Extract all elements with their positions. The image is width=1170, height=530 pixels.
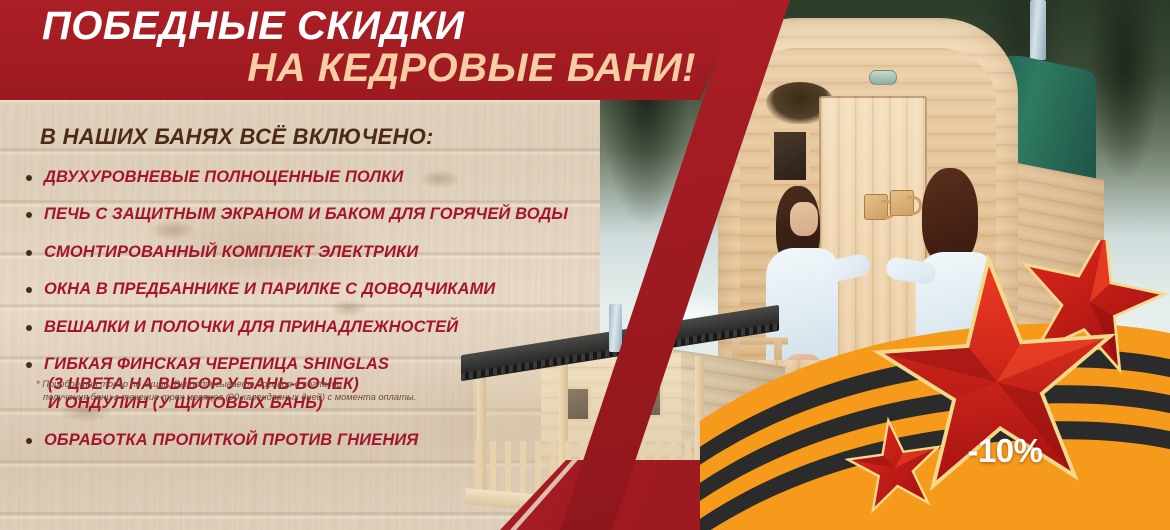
cabin-lamp-icon bbox=[869, 70, 897, 85]
face bbox=[790, 202, 818, 236]
list-item: ОКНА В ПРЕДБАННИКЕ И ПАРИЛКЕ С ДОВОДЧИКА… bbox=[26, 280, 600, 299]
cabin-window bbox=[770, 128, 810, 184]
promo-banner: ПОБЕДНЫЕ СКИДКИ НА КЕДРОВЫЕ БАНИ! В НАШИ… bbox=[0, 0, 1170, 530]
list-item: ВЕШАЛКИ И ПОЛОЧКИ ДЛЯ ПРИНАДЛЕЖНОСТЕЙ bbox=[26, 318, 600, 337]
list-item: ПЕЧЬ С ЗАЩИТНЫМ ЭКРАНОМ И БАКОМ ДЛЯ ГОРЯ… bbox=[26, 205, 600, 224]
beer-mug-icon bbox=[890, 190, 914, 216]
discount-stars bbox=[845, 240, 1170, 530]
chimney-pipe bbox=[609, 304, 622, 352]
list-item-label: СМОНТИРОВАННЫЙ КОМПЛЕКТ ЭЛЕКТРИКИ bbox=[44, 243, 418, 261]
features-list: ДВУХУРОВНЕВЫЕ ПОЛНОЦЕННЫЕ ПОЛКИ ПЕЧЬ С З… bbox=[0, 168, 600, 450]
list-item: ОБРАБОТКА ПРОПИТКОЙ ПРОТИВ ГНИЕНИЯ bbox=[26, 431, 600, 450]
disclaimer-line-2: получения бани в течение трех месяцев (9… bbox=[36, 391, 556, 404]
title-line-2: НА КЕДРОВЫЕ БАНИ! bbox=[0, 48, 720, 88]
list-item-label: ОКНА В ПРЕДБАННИКЕ И ПАРИЛКЕ С ДОВОДЧИКА… bbox=[44, 280, 495, 298]
list-item-label: ДВУХУРОВНЕВЫЕ ПОЛНОЦЕННЫЕ ПОЛКИ bbox=[44, 168, 403, 186]
star-small-bottom bbox=[845, 410, 950, 517]
header-title-block: ПОБЕДНЫЕ СКИДКИ НА КЕДРОВЫЕ БАНИ! bbox=[0, 0, 720, 100]
title-line-1: ПОБЕДНЫЕ СКИДКИ bbox=[0, 6, 720, 46]
list-item-label: ПЕЧЬ С ЗАЩИТНЫМ ЭКРАНОМ И БАКОМ ДЛЯ ГОРЯ… bbox=[44, 205, 568, 223]
beer-mug-icon bbox=[864, 194, 888, 220]
list-item-label: ОБРАБОТКА ПРОПИТКОЙ ПРОТИВ ГНИЕНИЯ bbox=[44, 431, 418, 449]
list-item: СМОНТИРОВАННЫЙ КОМПЛЕКТ ЭЛЕКТРИКИ bbox=[26, 243, 600, 262]
discount-badge-label: -10% bbox=[945, 432, 1065, 470]
disclaimer-text: * Приобретая товар по акции, Вы подписыв… bbox=[36, 378, 556, 404]
list-item-label: ГИБКАЯ ФИНСКАЯ ЧЕРЕПИЦА SHINGLAS bbox=[44, 355, 389, 373]
features-heading: В НАШИХ БАНЯХ ВСЁ ВКЛЮЧЕНО: bbox=[40, 124, 600, 150]
stars-svg bbox=[845, 240, 1170, 530]
list-item-label: ВЕШАЛКИ И ПОЛОЧКИ ДЛЯ ПРИНАДЛЕЖНОСТЕЙ bbox=[44, 318, 458, 336]
features-panel: В НАШИХ БАНЯХ ВСЁ ВКЛЮЧЕНО: ДВУХУРОВНЕВЫ… bbox=[0, 112, 600, 530]
list-item: ДВУХУРОВНЕВЫЕ ПОЛНОЦЕННЫЕ ПОЛКИ bbox=[26, 168, 600, 187]
disclaimer-line-1: * Приобретая товар по акции, Вы подписыв… bbox=[36, 378, 556, 391]
chimney-pipe bbox=[1030, 0, 1046, 60]
